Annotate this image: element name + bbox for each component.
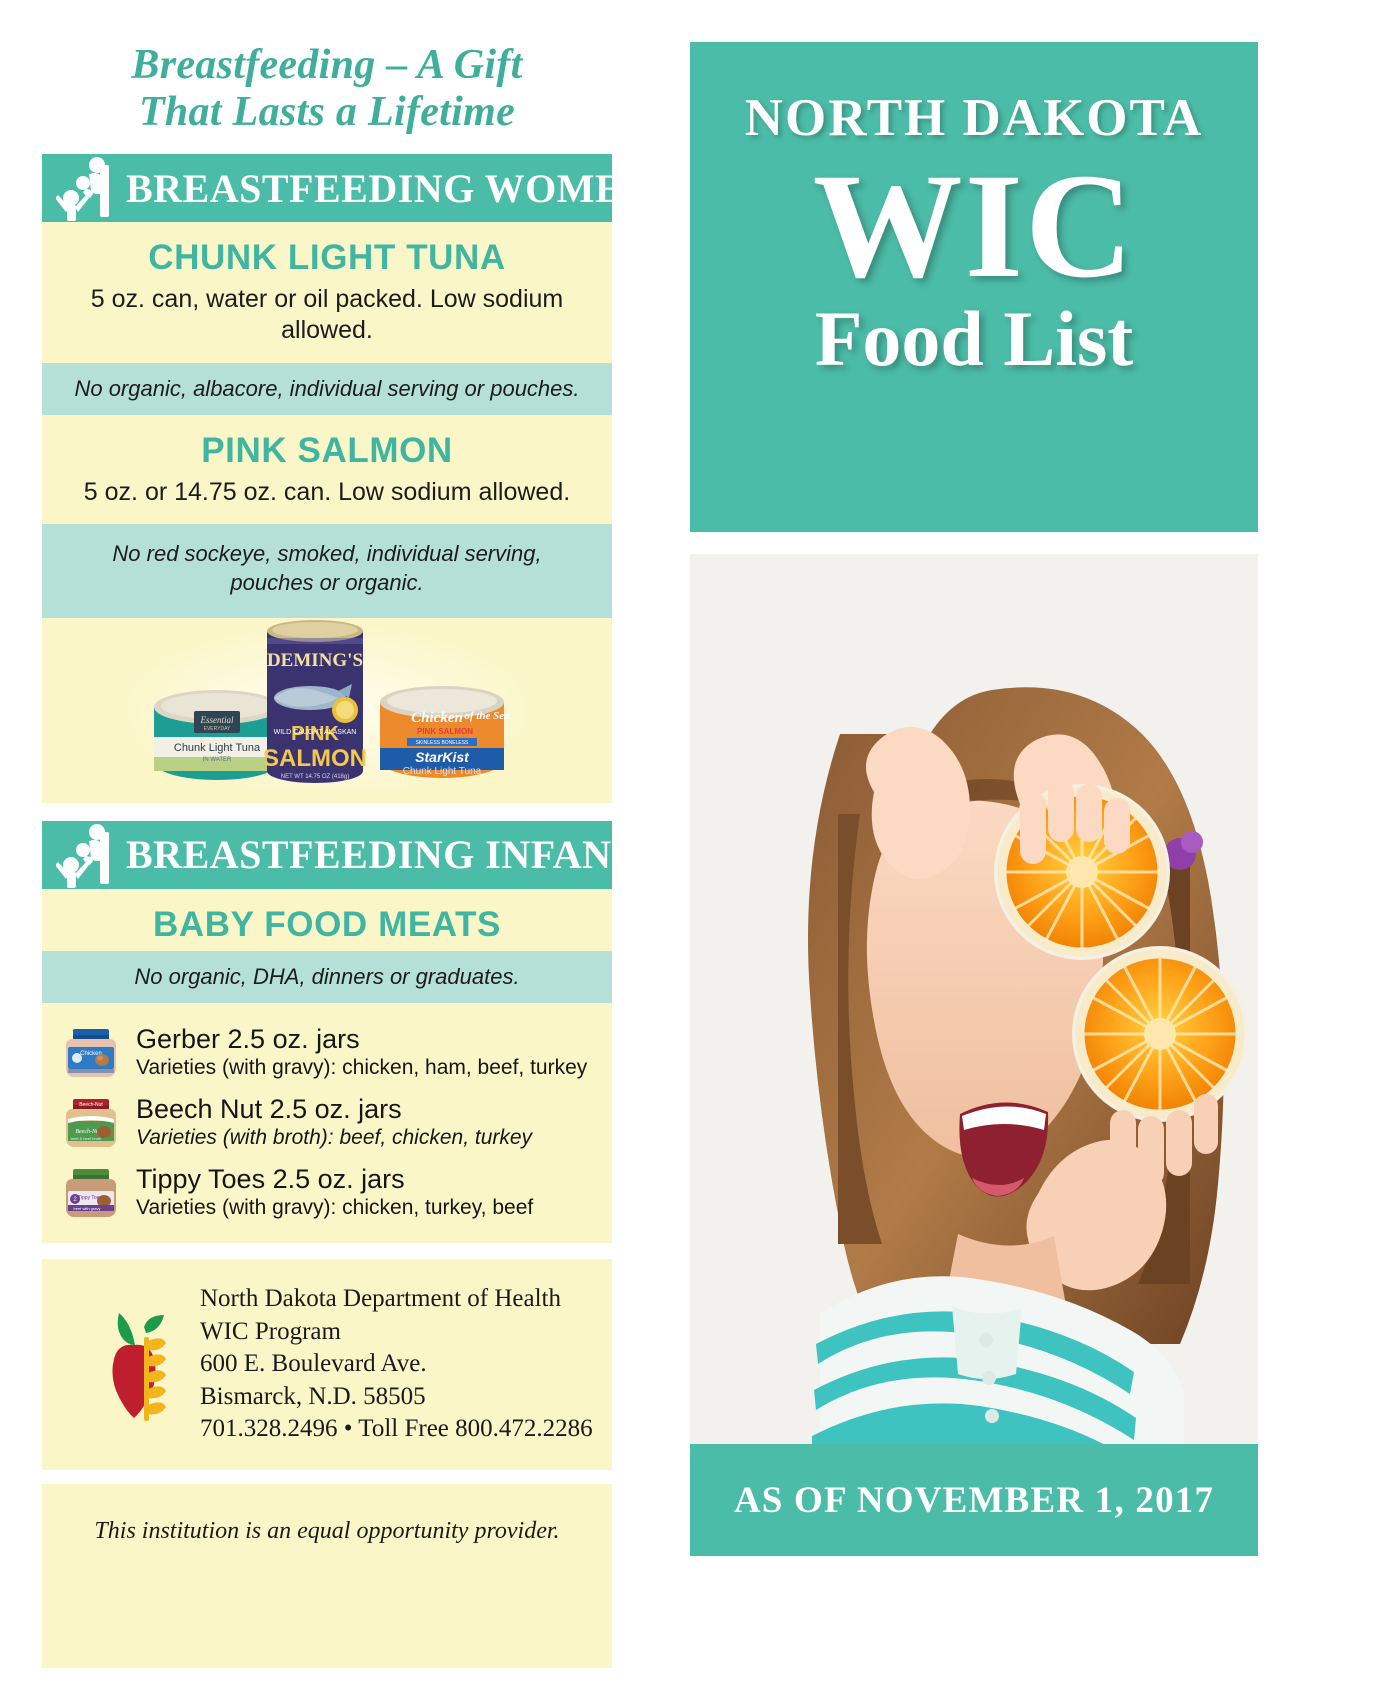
hero-wic-title: WIC xyxy=(813,154,1136,298)
svg-text:Chunk Light Tuna: Chunk Light Tuna xyxy=(403,766,482,777)
food-note-baby-food: No organic, DHA, dinners or graduates. xyxy=(42,951,612,1004)
chicken-of-the-sea-starkist-can-icon: Chicken of the Sea PINK SALMON SKINLESS … xyxy=(367,682,517,795)
left-panel: Breastfeeding – A Gift That Lasts a Life… xyxy=(42,0,612,1700)
note-line-2: pouches or organic. xyxy=(56,569,598,598)
breastfeeding-mother-icon xyxy=(56,822,118,888)
list-item: Chicken Gerber 2.5 oz. jars Varieties (w… xyxy=(42,1017,612,1087)
svg-text:EVERYDAY: EVERYDAY xyxy=(204,726,231,732)
svg-text:WILD CAUGHT ALASKAN: WILD CAUGHT ALASKAN xyxy=(274,729,357,736)
breastfeeding-mother-icon xyxy=(56,155,118,221)
svg-text:beef with gravy: beef with gravy xyxy=(74,1206,101,1211)
svg-text:DEMING'S: DEMING'S xyxy=(267,650,363,671)
svg-text:IN WATER: IN WATER xyxy=(203,757,232,763)
svg-text:StarKist: StarKist xyxy=(415,749,470,765)
note-line-1: No red sockeye, smoked, individual servi… xyxy=(56,540,598,569)
tagline-line-1: Breastfeeding – A Gift xyxy=(42,42,612,89)
address-line-4: Bismarck, N.D. 58505 xyxy=(200,1383,426,1410)
gerber-baby-food-jar-icon: Chicken xyxy=(60,1021,122,1083)
demings-pink-salmon-can-icon: DEMING'S PINK WILD CAUGHT ALASKAN SALMON… xyxy=(260,618,370,793)
food-note-tuna: No organic, albacore, individual serving… xyxy=(42,363,612,416)
food-note-salmon: No red sockeye, smoked, individual servi… xyxy=(42,524,612,617)
jar-varieties: Varieties (with broth): beef, chicken, t… xyxy=(136,1126,532,1149)
brochure-tagline: Breastfeeding – A Gift That Lasts a Life… xyxy=(42,0,612,136)
address-lines: North Dakota Department of Health WIC Pr… xyxy=(200,1283,593,1446)
jar-title: Tippy Toes 2.5 oz. jars xyxy=(136,1164,405,1194)
hero-food-list-subtitle: Food List xyxy=(815,300,1134,378)
beech-nut-baby-food-jar-icon: Beech-Nut Beech-Nut beef & beef broth xyxy=(60,1091,122,1153)
effective-date-text: AS OF NOVEMBER 1, 2017 xyxy=(734,1479,1214,1522)
svg-text:SALMON: SALMON xyxy=(263,745,367,772)
svg-text:PINK SALMON: PINK SALMON xyxy=(417,727,473,736)
canned-fish-product-photo: Essential EVERYDAY Chunk Light Tuna IN W… xyxy=(42,618,612,803)
svg-text:Chunk Light Tuna: Chunk Light Tuna xyxy=(174,742,261,754)
cover-photo-girl-with-oranges xyxy=(690,554,1258,1444)
list-item: 2 Tippy Toes beef with gravy Tippy Toes … xyxy=(42,1157,612,1227)
tagline-line-2: That Lasts a Lifetime xyxy=(42,89,612,136)
address-line-1: North Dakota Department of Health xyxy=(200,1285,561,1312)
food-description: 5 oz. or 14.75 oz. can. Low sodium allow… xyxy=(42,477,612,524)
list-item: Beech-Nut Beech-Nut beef & beef broth Be… xyxy=(42,1087,612,1157)
address-line-2: WIC Program xyxy=(200,1318,341,1345)
hero-state-name: NORTH DAKOTA xyxy=(745,88,1203,148)
jar-varieties: Varieties (with gravy): chicken, ham, be… xyxy=(136,1056,587,1079)
address-phone: 701.328.2496 • Toll Free 800.472.2286 xyxy=(200,1415,593,1442)
svg-text:beef & beef broth: beef & beef broth xyxy=(71,1136,102,1141)
jar-varieties: Varieties (with gravy): chicken, turkey,… xyxy=(136,1196,533,1219)
section-title: BREASTFEEDING INFANTS xyxy=(126,831,661,878)
tippy-toes-baby-food-jar-icon: 2 Tippy Toes beef with gravy xyxy=(60,1161,122,1223)
section-header-breastfeeding-women: BREASTFEEDING WOMEN xyxy=(42,154,612,222)
food-item-baby-food-meats: BABY FOOD MEATS xyxy=(42,889,612,951)
food-name: CHUNK LIGHT TUNA xyxy=(42,222,612,284)
section-header-breastfeeding-infants: BREASTFEEDING INFANTS xyxy=(42,821,612,889)
right-panel: NORTH DAKOTA WIC Food List xyxy=(690,0,1258,1700)
equal-opportunity-statement: This institution is an equal opportunity… xyxy=(94,1518,559,1545)
hero-title-block: NORTH DAKOTA WIC Food List xyxy=(690,42,1258,532)
effective-date-banner: AS OF NOVEMBER 1, 2017 xyxy=(690,1444,1258,1556)
svg-text:Essential: Essential xyxy=(200,715,234,725)
svg-text:NET WT 14.75 OZ (418g): NET WT 14.75 OZ (418g) xyxy=(281,774,349,780)
section-title: BREASTFEEDING WOMEN xyxy=(126,165,652,212)
address-line-3: 600 E. Boulevard Ave. xyxy=(200,1350,427,1377)
svg-text:Chicken: Chicken xyxy=(411,710,463,726)
svg-text:SKINLESS BONELESS: SKINLESS BONELESS xyxy=(416,740,469,746)
jar-title: Beech Nut 2.5 oz. jars xyxy=(136,1094,402,1124)
food-item-tuna: CHUNK LIGHT TUNA 5 oz. can, water or oil… xyxy=(42,222,612,363)
svg-text:of the Sea: of the Sea xyxy=(464,710,510,722)
food-name: BABY FOOD MEATS xyxy=(42,889,612,951)
jar-title: Gerber 2.5 oz. jars xyxy=(136,1024,360,1054)
food-item-salmon: PINK SALMON 5 oz. or 14.75 oz. can. Low … xyxy=(42,415,612,524)
svg-text:Beech-Nut: Beech-Nut xyxy=(79,1102,103,1108)
agency-address-block: North Dakota Department of Health WIC Pr… xyxy=(42,1259,612,1470)
equal-opportunity-block: This institution is an equal opportunity… xyxy=(42,1484,612,1668)
food-name: PINK SALMON xyxy=(42,415,612,477)
baby-food-jar-list: Chicken Gerber 2.5 oz. jars Varieties (w… xyxy=(42,1003,612,1243)
nd-health-apple-wheat-logo-icon xyxy=(104,1303,178,1425)
food-description: 5 oz. can, water or oil packed. Low sodi… xyxy=(42,284,612,363)
